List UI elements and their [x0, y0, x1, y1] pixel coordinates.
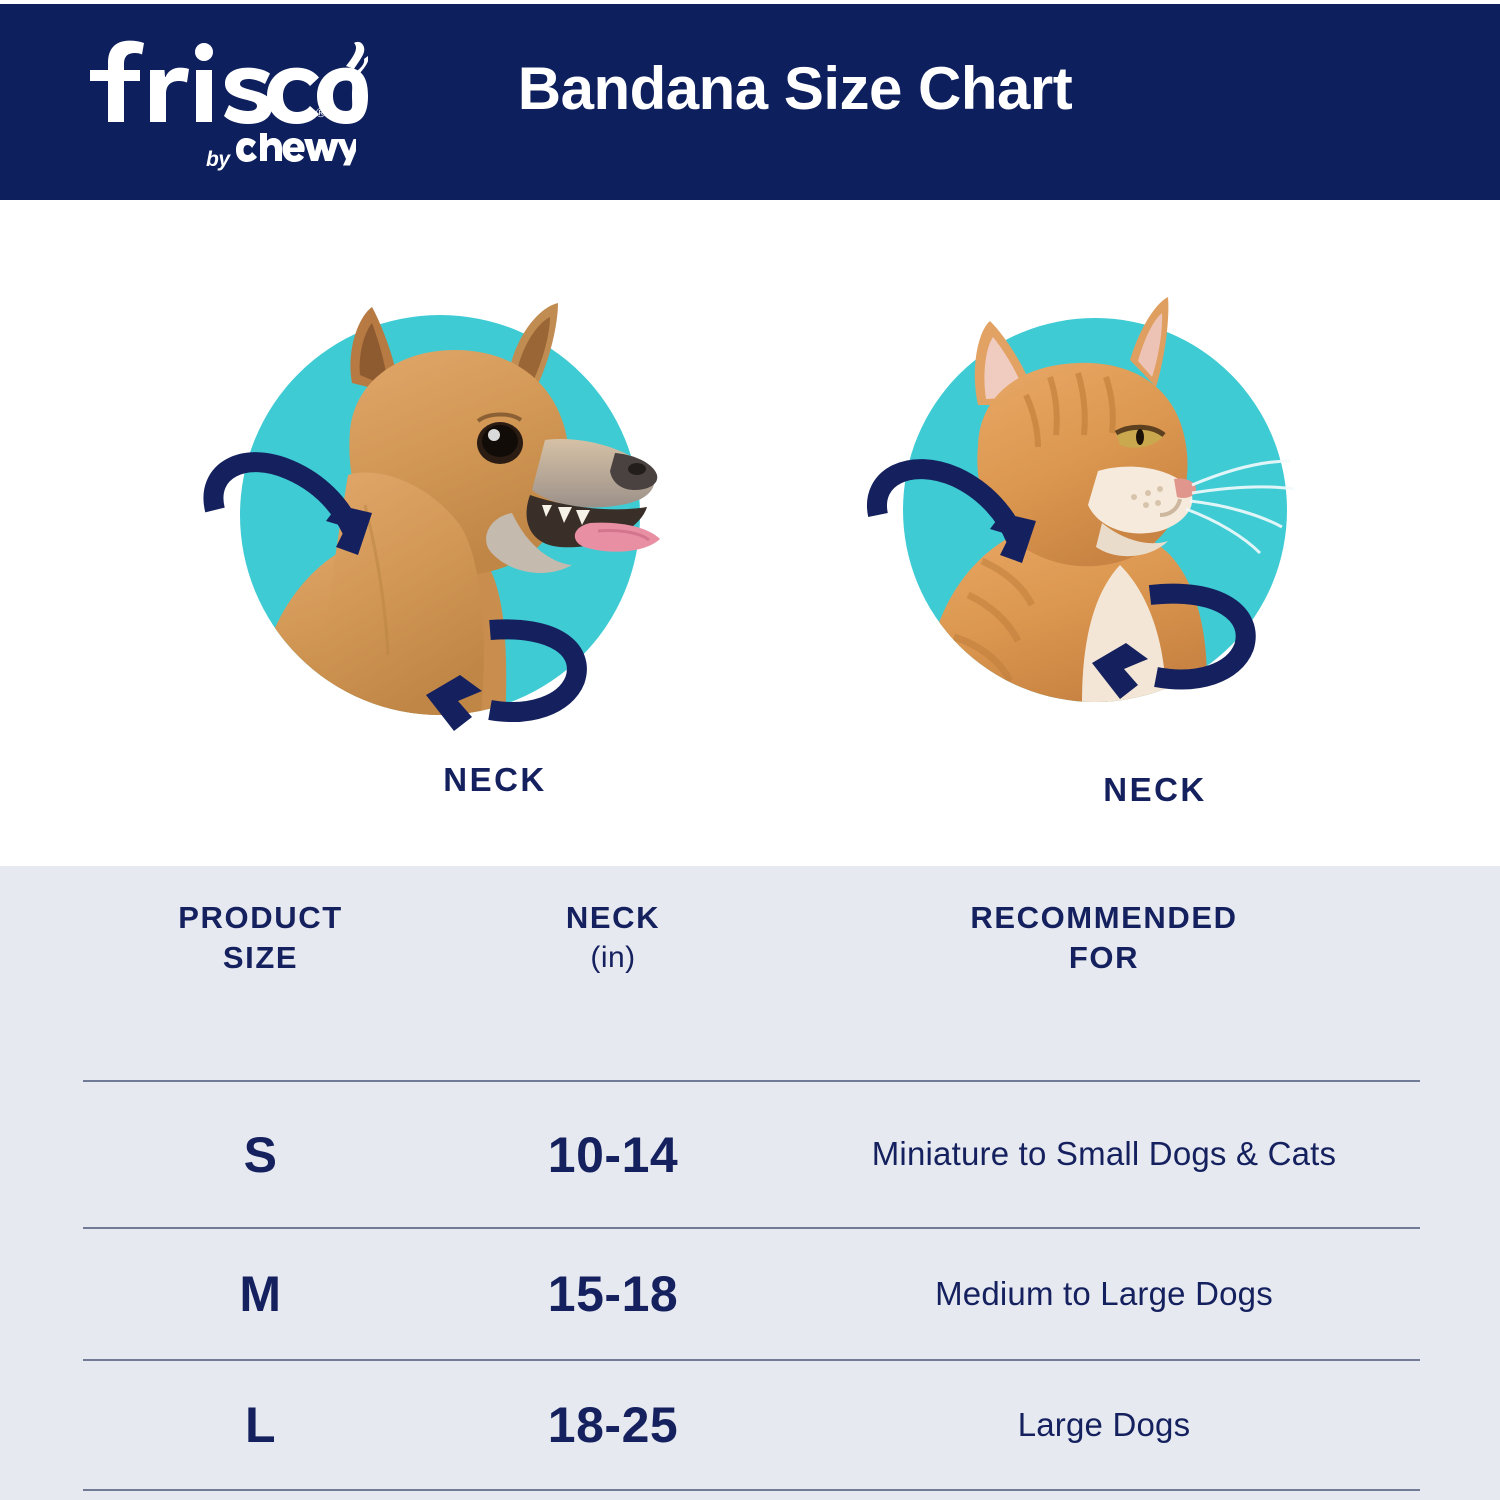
cell-product-size: L	[83, 1396, 438, 1454]
dog-measurement-figure: NECK	[160, 255, 720, 815]
cell-recommended-for: Miniature to Small Dogs & Cats	[788, 1132, 1420, 1177]
page-title: Bandana Size Chart	[0, 54, 1500, 123]
dog-neck-measure-arrow-icon	[160, 255, 720, 815]
cell-recommended-for: Large Dogs	[788, 1403, 1420, 1448]
table-divider	[83, 1359, 1420, 1361]
dog-measurement-label: NECK	[215, 761, 775, 799]
table-header-row: PRODUCT SIZE NECK (in) RECOMMENDED FOR	[83, 866, 1420, 1080]
column-header-product-size-line2: SIZE	[223, 940, 298, 975]
column-header-recommended-line1: RECOMMENDED	[970, 900, 1237, 935]
column-header-product-size-line1: PRODUCT	[178, 900, 342, 935]
logo-by-text: by	[206, 148, 230, 172]
cell-product-size: M	[83, 1265, 438, 1323]
column-header-neck: NECK (in)	[438, 898, 788, 977]
cell-neck-range: 18-25	[438, 1396, 788, 1454]
cat-neck-measure-arrow-icon	[830, 265, 1390, 825]
illustration-section: NECK	[0, 200, 1500, 866]
size-table: PRODUCT SIZE NECK (in) RECOMMENDED FOR S…	[83, 866, 1420, 1491]
logo-byline: by	[206, 132, 356, 172]
cell-recommended-for: Medium to Large Dogs	[788, 1272, 1420, 1317]
table-row: M 15-18 Medium to Large Dogs	[83, 1229, 1420, 1359]
column-header-neck-line1: NECK	[566, 900, 660, 935]
table-divider	[83, 1080, 1420, 1082]
column-header-recommended-line2: FOR	[1069, 940, 1139, 975]
column-header-recommended-for: RECOMMENDED FOR	[788, 898, 1420, 979]
table-row: L 18-25 Large Dogs	[83, 1361, 1420, 1489]
table-row: S 10-14 Miniature to Small Dogs & Cats	[83, 1082, 1420, 1227]
cell-product-size: S	[83, 1126, 438, 1184]
chewy-wordmark-icon	[236, 132, 356, 166]
table-divider	[83, 1489, 1420, 1491]
size-chart-page: ® by Bandana Size Chart	[0, 0, 1500, 1500]
table-divider	[83, 1227, 1420, 1229]
cell-neck-range: 10-14	[438, 1126, 788, 1184]
cell-neck-range: 15-18	[438, 1265, 788, 1323]
size-table-section: PRODUCT SIZE NECK (in) RECOMMENDED FOR S…	[0, 866, 1500, 1500]
cat-measurement-figure: NECK	[830, 265, 1390, 825]
column-header-neck-unit: (in)	[438, 938, 788, 977]
header-band: ® by Bandana Size Chart	[0, 4, 1500, 200]
cat-measurement-label: NECK	[875, 771, 1435, 809]
column-header-product-size: PRODUCT SIZE	[83, 898, 438, 979]
